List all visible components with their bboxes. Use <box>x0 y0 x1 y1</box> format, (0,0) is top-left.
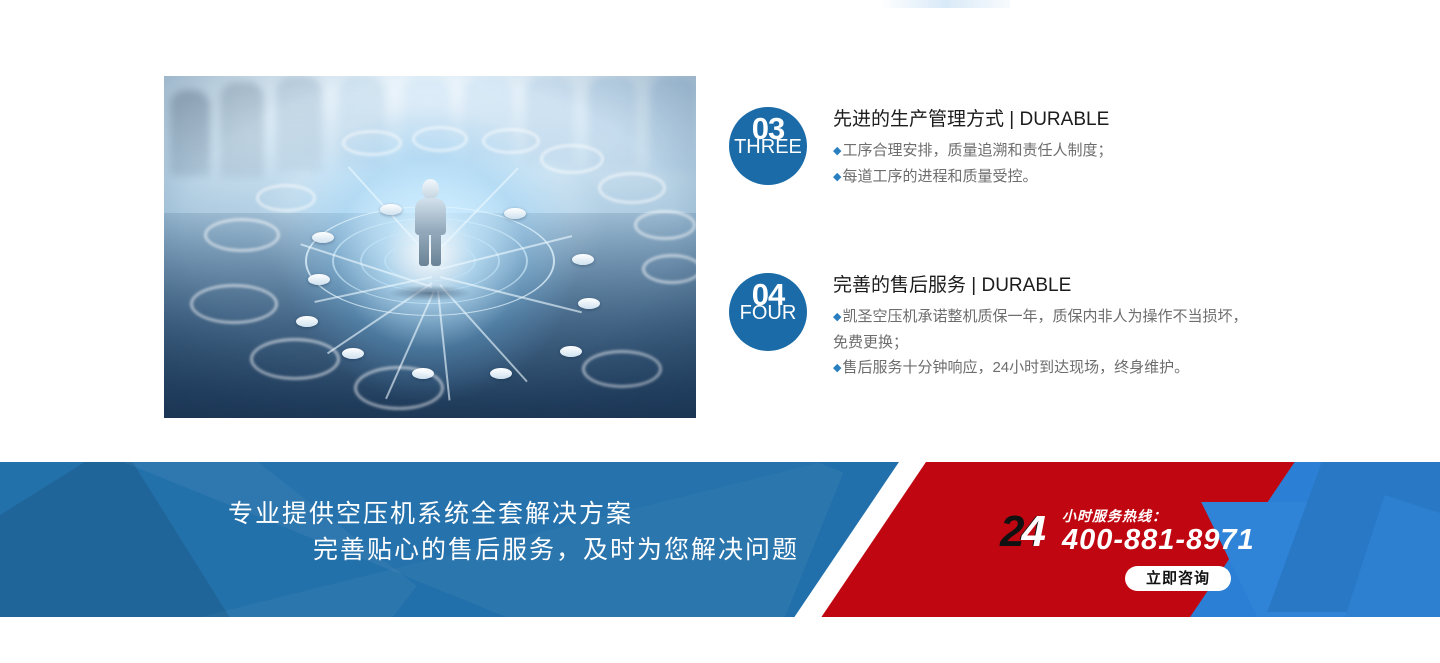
network-concept-image <box>164 76 696 418</box>
feature-bullet-item: ◆凯圣空压机承诺整机质保一年，质保内非人为操作不当损坏，免费更换； <box>833 304 1249 355</box>
feature-bullet-item: ◆工序合理安排，质量追溯和责任人制度； <box>833 138 1112 164</box>
feature-bullet-text: 每道工序的进程和质量受控。 <box>842 168 1037 185</box>
feature-title: 完善的售后服务 | DURABLE <box>833 273 1249 299</box>
diamond-bullet-icon: ◆ <box>833 311 841 323</box>
hours-badge-digit-2: 2 <box>1000 507 1021 556</box>
image-vignette <box>164 76 696 418</box>
feature-bullet-list: ◆凯圣空压机承诺整机质保一年，质保内非人为操作不当损坏，免费更换； ◆售后服务十… <box>833 304 1249 381</box>
hotline-number[interactable]: 400-881-8971 <box>1062 524 1255 557</box>
feature-bullet-item: ◆每道工序的进程和质量受控。 <box>833 164 1112 190</box>
hours-badge-24: 24 <box>1000 510 1043 554</box>
feature-title: 先进的生产管理方式 | DURABLE <box>833 107 1112 133</box>
slogan-line-1: 专业提供空压机系统全套解决方案 <box>0 496 920 532</box>
slogan-line-2: 完善贴心的售后服务，及时为您解决问题 <box>0 532 920 568</box>
badge-word: FOUR <box>729 302 807 324</box>
advantages-page: 03 THREE 先进的生产管理方式 | DURABLE ◆工序合理安排，质量追… <box>0 0 1440 663</box>
feature-badge-04: 04 FOUR <box>729 273 807 351</box>
feature-bullet-text: 工序合理安排，质量追溯和责任人制度； <box>842 142 1112 159</box>
hours-badge-digit-4: 4 <box>1021 507 1042 556</box>
feature-badge-03: 03 THREE <box>729 107 807 185</box>
consult-now-button[interactable]: 立即咨询 <box>1125 566 1231 591</box>
feature-bullet-item: ◆售后服务十分钟响应，24小时到达现场，终身维护。 <box>833 355 1249 381</box>
cta-banner: 专业提供空压机系统全套解决方案 完善贴心的售后服务，及时为您解决问题 24 小时… <box>0 462 1440 617</box>
diamond-bullet-icon: ◆ <box>833 171 841 183</box>
hotline-label: 小时服务热线： <box>1062 506 1167 526</box>
feature-text-04: 完善的售后服务 | DURABLE ◆凯圣空压机承诺整机质保一年，质保内非人为操… <box>833 273 1249 381</box>
diamond-bullet-icon: ◆ <box>833 362 841 374</box>
top-gradient-artifact <box>880 0 1010 8</box>
feature-bullet-text: 凯圣空压机承诺整机质保一年，质保内非人为操作不当损坏，免费更换； <box>833 308 1247 351</box>
banner-slogan: 专业提供空压机系统全套解决方案 完善贴心的售后服务，及时为您解决问题 <box>0 462 920 617</box>
feature-bullet-list: ◆工序合理安排，质量追溯和责任人制度； ◆每道工序的进程和质量受控。 <box>833 138 1112 190</box>
feature-bullet-text: 售后服务十分钟响应，24小时到达现场，终身维护。 <box>842 359 1189 376</box>
badge-word: THREE <box>729 136 807 158</box>
diamond-bullet-icon: ◆ <box>833 145 841 157</box>
feature-text-03: 先进的生产管理方式 | DURABLE ◆工序合理安排，质量追溯和责任人制度； … <box>833 107 1112 190</box>
